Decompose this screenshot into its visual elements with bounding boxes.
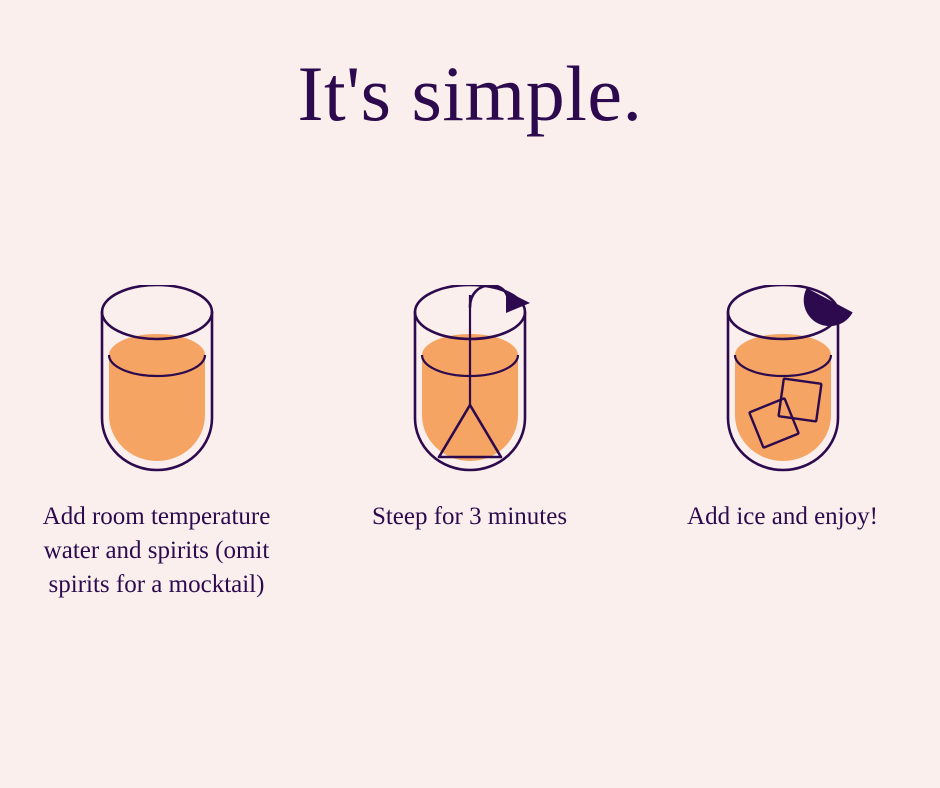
glass-plain-icon bbox=[57, 285, 257, 490]
step-2-caption: Steep for 3 minutes bbox=[325, 500, 615, 534]
steps-row: Add room temperature water and spirits (… bbox=[0, 285, 940, 602]
glass-teabag-icon bbox=[370, 285, 570, 490]
infographic-page: It's simple. bbox=[0, 0, 940, 788]
step-2: Steep for 3 minutes bbox=[313, 285, 626, 534]
page-title: It's simple. bbox=[0, 48, 940, 140]
step-3: Add ice and enjoy! bbox=[626, 285, 939, 534]
step-1: Add room temperature water and spirits (… bbox=[0, 285, 313, 602]
step-1-caption: Add room temperature water and spirits (… bbox=[17, 500, 297, 602]
step-3-caption: Add ice and enjoy! bbox=[638, 500, 928, 534]
glass-ice-garnish-icon bbox=[683, 285, 883, 490]
